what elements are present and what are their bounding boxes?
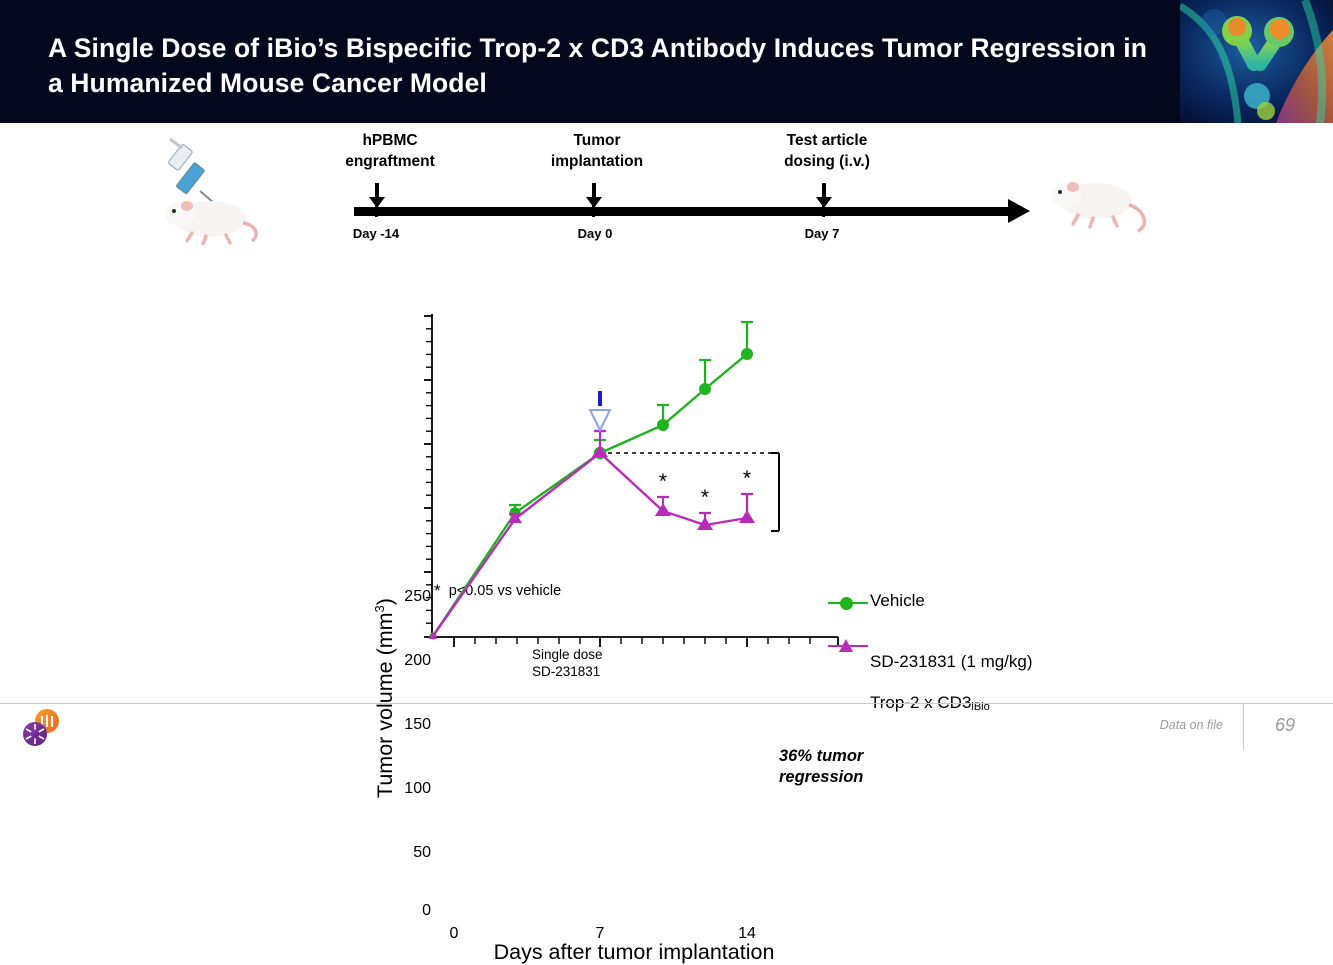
regression-bracket [771, 453, 779, 531]
timeline-tick-0 [375, 201, 378, 217]
x-axis-title: Days after tumor implantation [424, 940, 844, 965]
timeline-axis [354, 207, 1012, 216]
timeline-arrow-head-icon [1008, 199, 1030, 223]
mouse-with-syringe-icon [148, 137, 268, 250]
legend-marker-circle-icon [826, 593, 870, 613]
slide-header: A Single Dose of iBio’s Bispecific Trop-… [0, 0, 1333, 123]
dose-arrow-icon [590, 391, 610, 430]
timeline-tick-1 [592, 201, 595, 217]
significance-star-day10: * [659, 470, 667, 493]
y-tick-label-0: 0 [389, 902, 431, 920]
footer-note: Data on file [1160, 718, 1223, 732]
x-tick-label-7: 7 [580, 925, 620, 943]
footer-divider [1243, 704, 1244, 750]
x-tick-label-14: 14 [727, 925, 767, 943]
x-tick-label-0: 0 [434, 925, 474, 943]
legend-marker-triangle-icon [826, 633, 870, 653]
timeline-event-label-0: hPBMC engraftment [290, 131, 490, 172]
timeline-day-label-2: Day 7 [772, 226, 872, 241]
significance-star-day14: * [743, 467, 751, 490]
timeline-event-label-1: Tumor implantation [497, 131, 697, 172]
study-timeline: hPBMC engraftment Day -14 Tumor implanta… [0, 123, 1333, 273]
significance-star-day12: * [701, 486, 709, 509]
mouse-icon [1040, 169, 1162, 244]
timeline-day-label-1: Day 0 [545, 226, 645, 241]
regression-bracket-label: 36% tumor regression [779, 746, 863, 789]
y-tick-label-50: 50 [389, 844, 431, 862]
timeline-event-label-2: Test article dosing (i.v.) [722, 131, 932, 172]
page-title: A Single Dose of iBio’s Bispecific Trop-… [48, 31, 1158, 101]
ibio-logo-icon [20, 708, 64, 753]
antibody-illustration-icon [1180, 0, 1333, 123]
series-vehicle [429, 322, 753, 640]
page-number: 69 [1275, 715, 1295, 736]
significance-stars: * * * [659, 467, 751, 509]
legend-item-vehicle: Vehicle [826, 591, 1116, 613]
y-tick-label-100: 100 [389, 780, 431, 798]
timeline-tick-2 [822, 201, 825, 217]
series-sd231831 [429, 431, 755, 639]
tumor-volume-chart: Tumor volume (mm3) Days after tumor impl… [0, 273, 1333, 690]
slide-footer: Data on file 69 [0, 703, 1333, 749]
timeline-day-label-0: Day -14 [326, 226, 426, 241]
plot-area: * * * [0, 273, 1333, 690]
legend-label-vehicle: Vehicle [870, 591, 925, 612]
